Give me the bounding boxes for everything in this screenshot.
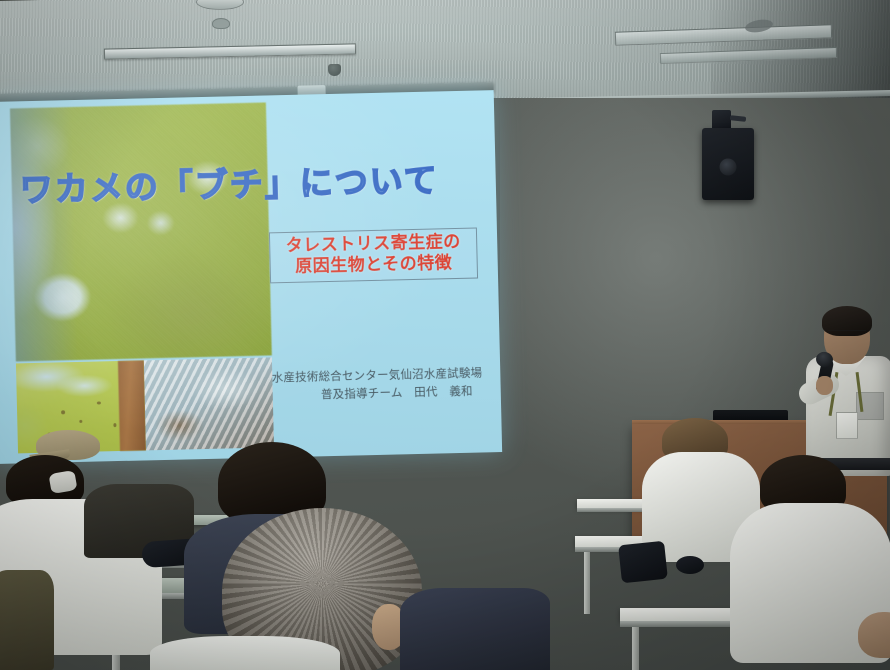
audience-head — [858, 612, 890, 658]
slide-affiliation: 水産技術総合センター気仙沼水産試験場 普及指導チーム 田代 義和 — [270, 364, 483, 405]
audience-member-4-shoulder — [400, 588, 550, 670]
glasses-icon — [828, 330, 866, 339]
slide-photo-wakame-closeup — [10, 102, 272, 361]
slide-photo-brown-band — [118, 360, 146, 451]
backpack — [618, 541, 668, 584]
speaker-bracket — [712, 110, 731, 130]
slide-photo-micrograph-right — [144, 357, 274, 450]
audience-member-8 — [858, 612, 890, 670]
lecture-room-photo: ワカメの「ブチ」について タレストリス寄生症の 原因生物とその特徴 水産技術総合… — [0, 0, 890, 670]
ceiling-sprinkler-icon — [328, 64, 341, 76]
slide-subtitle-box: タレストリス寄生症の 原因生物とその特徴 — [269, 228, 478, 284]
audience-member-5-shirt — [150, 636, 340, 670]
desk-leg — [632, 627, 639, 670]
projected-slide: ワカメの「ブチ」について タレストリス寄生症の 原因生物とその特徴 水産技術総合… — [0, 90, 502, 464]
audience-member-3 — [0, 570, 54, 670]
ceiling-detector-icon — [212, 18, 230, 29]
presenter — [800, 300, 890, 475]
desk-leg — [584, 552, 590, 614]
presenter-hand — [816, 376, 833, 395]
photo-edge-shadow — [10, 107, 78, 361]
desk-item-pouch — [676, 556, 704, 574]
slide-title: ワカメの「ブチ」について — [19, 153, 460, 211]
slide-subtitle-line2: 原因生物とその特徴 — [273, 252, 475, 277]
projection-screen-assembly: ワカメの「ブチ」について タレストリス寄生症の 原因生物とその特徴 水産技術総合… — [0, 90, 502, 467]
presenter-id-badge — [836, 412, 858, 439]
speaker-cone-icon — [720, 158, 737, 175]
wall-speaker — [702, 128, 754, 200]
